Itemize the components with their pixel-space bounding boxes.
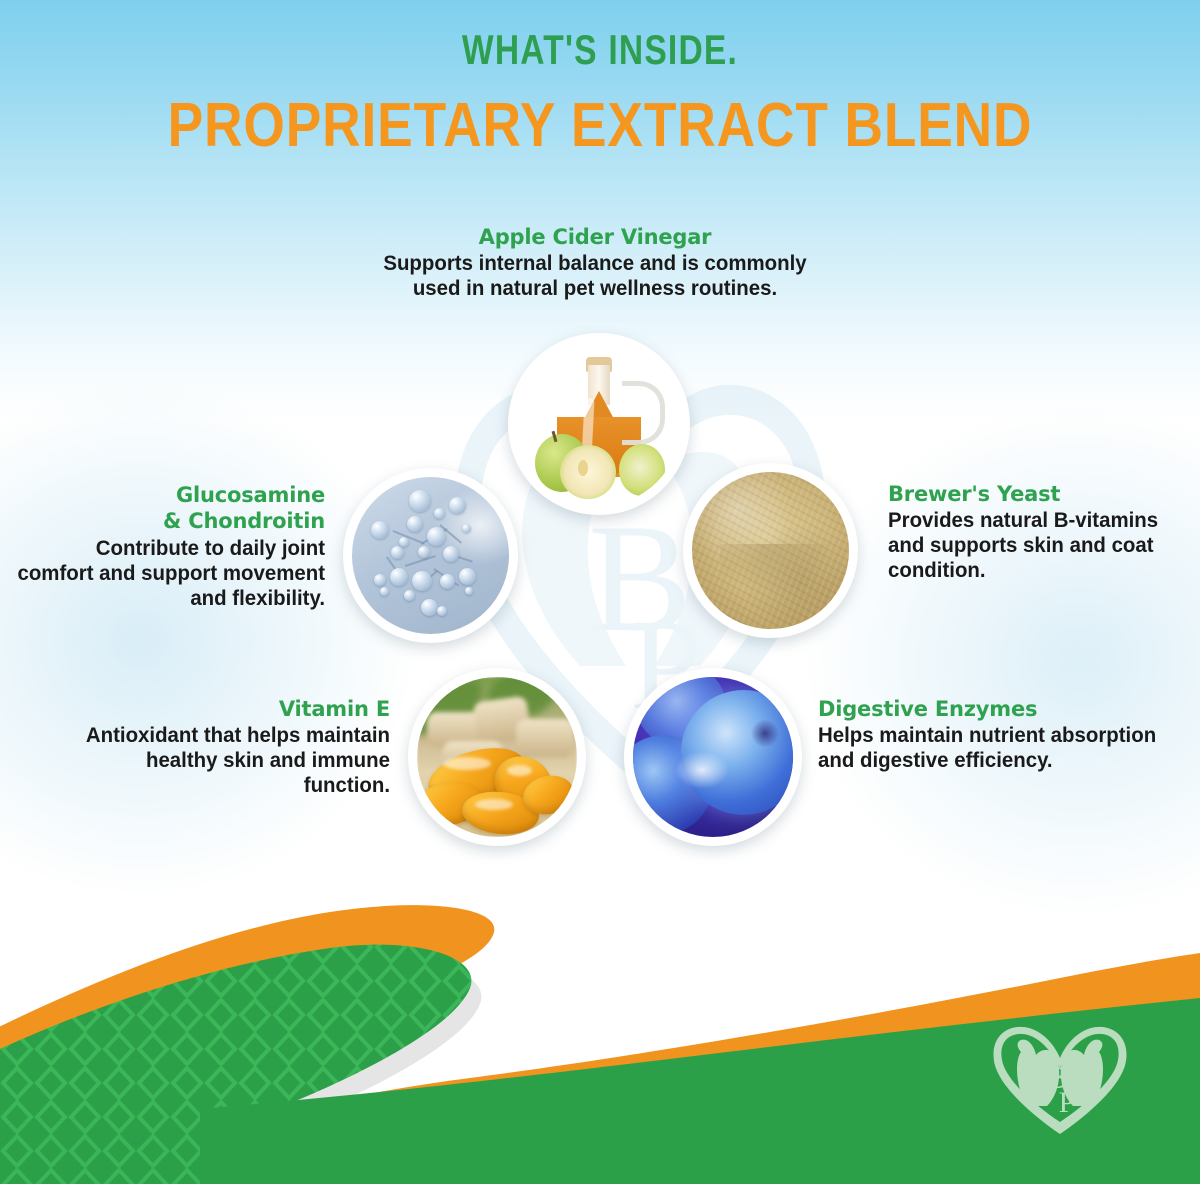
glucosamine-molecule-photo [352,477,509,634]
page-title: PROPRIETARY EXTRACT BLEND [84,90,1116,161]
ingredient-name-apple-cider-vinegar: Apple Cider Vinegar [345,225,845,249]
ingredient-image-apple-cider-vinegar[interactable] [508,333,690,515]
ingredient-image-digestive-enzymes[interactable] [624,668,802,846]
ingredient-image-brewers-yeast[interactable] [683,463,858,638]
ingredient-description-vitamin-e: Antioxidant that helps maintain healthy … [77,723,391,798]
ingredient-name-digestive-enzymes: Digestive Enzymes [818,697,1188,721]
apple-cider-vinegar-photo [517,342,681,506]
ingredient-name-glucosamine-line1: Glucosamine [0,483,325,507]
ingredient-description-glucosamine-chondroitin: Contribute to daily joint comfort and su… [16,536,325,611]
ingredient-image-vitamin-e[interactable] [408,668,586,846]
digestive-enzyme-cells-photo [633,677,793,837]
background-haze-left [0,380,420,900]
ingredient-description-digestive-enzymes: Helps maintain nutrient absorption and d… [818,723,1170,773]
ingredient-vitamin-e: Vitamin E Antioxidant that helps maintai… [60,697,390,798]
ingredient-name-glucosamine-line2: & Chondroitin [0,509,325,533]
ingredient-name-brewers-yeast: Brewer's Yeast [888,482,1188,506]
bp-pet-heart-logo[interactable]: B P [985,1022,1135,1140]
brewers-yeast-photo [692,472,849,629]
ingredient-glucosamine-chondroitin: Glucosamine & Chondroitin Contribute to … [0,483,325,611]
infographic-poster: B P WHAT'S INSIDE. PROPRIETARY EXTRACT B… [0,0,1200,1184]
ingredient-description-brewers-yeast: Provides natural B-vitamins and supports… [888,508,1173,583]
ingredient-digestive-enzymes: Digestive Enzymes Helps maintain nutrien… [818,697,1188,773]
logo-monogram-p: P [1059,1086,1076,1119]
vitamin-e-capsules-photo [417,677,577,837]
ingredient-description-apple-cider-vinegar: Supports internal balance and is commonl… [358,251,833,301]
page-eyebrow-title: WHAT'S INSIDE. [120,26,1080,74]
ingredient-brewers-yeast: Brewer's Yeast Provides natural B-vitami… [888,482,1188,583]
ingredient-image-glucosamine-chondroitin[interactable] [343,468,518,643]
ingredient-apple-cider-vinegar: Apple Cider Vinegar Supports internal ba… [345,225,845,301]
ingredient-name-vitamin-e: Vitamin E [60,697,390,721]
